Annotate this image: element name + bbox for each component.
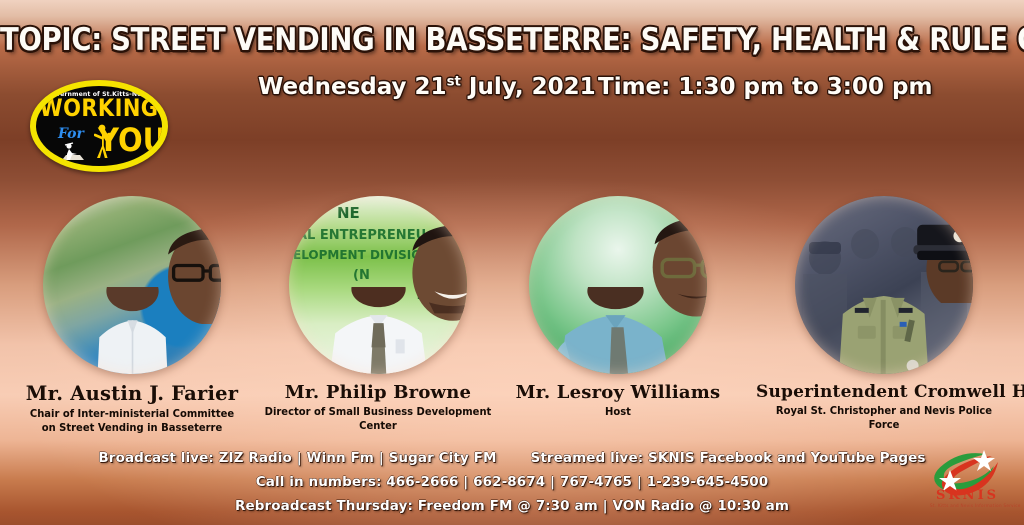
panelist-head xyxy=(289,214,467,321)
backdrop-text: Forw xyxy=(417,292,442,302)
logo-working-text: WORKING xyxy=(36,96,162,120)
panelist-photo xyxy=(43,196,221,374)
photo-backdrop-green xyxy=(529,196,707,374)
panelist-role: Royal St. Christopher and Nevis Police F… xyxy=(762,404,1005,432)
event-date: Wednesday 21st July, 2021 xyxy=(258,74,596,100)
logo-you-text: YOU xyxy=(98,125,162,157)
backdrop-text: AL ENTREPRENEU xyxy=(297,228,426,243)
sknis-name: SKNIS xyxy=(936,488,999,503)
panelist-photo xyxy=(529,196,707,374)
panelist-photo xyxy=(795,196,973,374)
panelist-card: Superintendent Cromwell Henry Royal St. … xyxy=(756,196,1012,432)
panelist-role-line-1: Chair of Inter-ministerial Committee xyxy=(10,407,253,421)
event-date-prefix: Wednesday 21 xyxy=(258,74,447,100)
panelist-head xyxy=(43,214,221,324)
event-time: Time: 1:30 pm to 3:00 pm xyxy=(598,74,932,100)
panelist-figure xyxy=(289,287,467,374)
photo-backdrop-officers xyxy=(795,196,973,374)
panelist-figure xyxy=(795,278,972,374)
panelist-name: Mr. Philip Browne xyxy=(250,382,506,403)
photo-backdrop-banner: NE AL ENTREPRENEU ELOPMENT DIVISION (N F… xyxy=(289,196,467,374)
footer-line-callin: Call in numbers: 466-2666 | 662-8674 | 7… xyxy=(0,470,1024,494)
panelist-name: Mr. Lesroy Williams xyxy=(490,382,746,403)
panelist-role-line-1: Director of Small Business Development C… xyxy=(256,405,499,433)
footer-line-broadcast: Broadcast live: ZIZ Radio | Winn Fm | Su… xyxy=(0,446,1024,470)
backdrop-text: (N xyxy=(353,268,370,283)
construction-worker-icon xyxy=(60,142,86,162)
sknis-logo: SKNIS St. Kitts and Nevis Information Se… xyxy=(922,448,1008,518)
logo-for-text: For xyxy=(58,126,84,142)
title-block: TOPIC: STREET VENDING IN BASSETERRE: SAF… xyxy=(0,24,1024,56)
background-officers xyxy=(795,196,973,374)
footer-line-rebroadcast: Rebroadcast Thursday: Freedom FM @ 7:30 … xyxy=(0,494,1024,518)
streamed-text: Streamed live: SKNIS Facebook and YouTub… xyxy=(531,450,926,466)
panelist-figure xyxy=(529,287,707,374)
panelist-name: Superintendent Cromwell Henry xyxy=(756,382,1012,402)
event-date-suffix: July, 2021 xyxy=(461,74,596,100)
panelist-role-line-1: Host xyxy=(496,405,739,419)
panelist-head xyxy=(529,210,707,320)
backdrop-text: NE xyxy=(337,204,360,222)
panelist-role: Director of Small Business Development C… xyxy=(256,405,499,433)
broadcast-text: Broadcast live: ZIZ Radio | Winn Fm | Su… xyxy=(98,450,496,466)
panelist-name: Mr. Austin J. Farier xyxy=(4,382,260,405)
panelist-card: Mr. Austin J. Farier Chair of Inter-mini… xyxy=(4,196,260,435)
panelist-role: Host xyxy=(496,405,739,419)
footer-block: Broadcast live: ZIZ Radio | Winn Fm | Su… xyxy=(0,446,1024,518)
panelist-head-with-cap xyxy=(795,210,973,303)
photo-backdrop-aerial xyxy=(43,196,221,374)
panelist-figure xyxy=(43,287,221,374)
panelist-card: Mr. Lesroy Williams Host xyxy=(490,196,746,419)
panelist-role: Chair of Inter-ministerial Committee on … xyxy=(10,407,253,435)
logo-inner-disc: Government of St.Kitts-Nevis WORKING For… xyxy=(36,86,162,166)
panelist-photo: NE AL ENTREPRENEU ELOPMENT DIVISION (N F… xyxy=(289,196,467,374)
panelist-role-line-1: Royal St. Christopher and Nevis Police F… xyxy=(762,404,1005,432)
working-for-you-logo: Government of St.Kitts-Nevis WORKING For… xyxy=(30,80,168,172)
event-date-ordinal: st xyxy=(447,74,461,89)
sknis-tagline: St. Kitts and Nevis Information Service xyxy=(930,503,1021,508)
panelist-role-line-2: on Street Vending in Basseterre xyxy=(10,421,253,435)
panelist-card: NE AL ENTREPRENEU ELOPMENT DIVISION (N F… xyxy=(250,196,506,433)
page-title: TOPIC: STREET VENDING IN BASSETERRE: SAF… xyxy=(0,22,1024,58)
poster-canvas: TOPIC: STREET VENDING IN BASSETERRE: SAF… xyxy=(0,0,1024,525)
backdrop-text: ELOPMENT DIVISION xyxy=(293,248,432,262)
